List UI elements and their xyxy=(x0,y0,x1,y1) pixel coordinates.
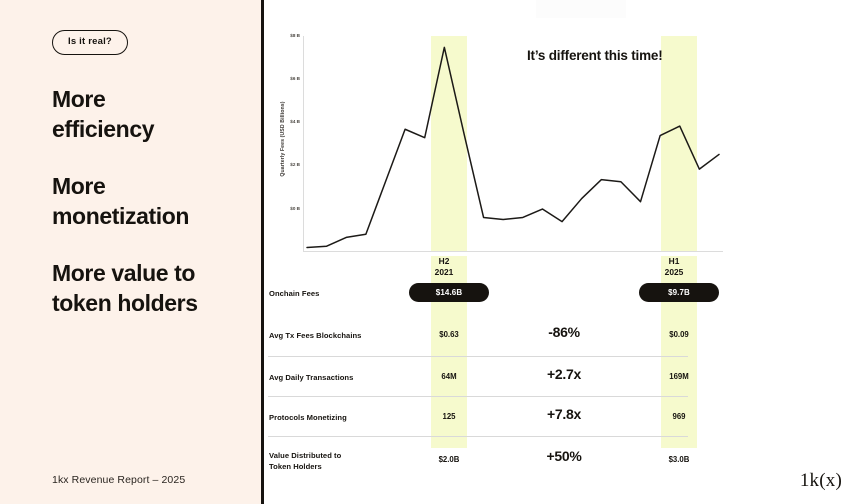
period-label-h2-2021-line2: 2021 xyxy=(416,267,472,278)
table-row: Avg Tx Fees Blockchains $0.63 -86% $0.09 xyxy=(264,316,860,356)
chart-plot-area: It’s different this time! xyxy=(303,36,723,252)
y-tick-0: $0 B xyxy=(290,206,300,211)
table-row: Avg Daily Transactions 64M +2.7x 169M xyxy=(264,356,860,396)
row-label-value-distributed-line1: Value Distributed to xyxy=(269,450,341,461)
headline-efficiency-line2: efficiency xyxy=(52,114,264,145)
period-label-h1-2025: H1 2025 xyxy=(646,256,702,278)
row-label-avg-daily-transactions: Avg Daily Transactions xyxy=(269,372,353,383)
y-tick-2: $2 B xyxy=(290,162,300,167)
row-delta-avg-daily-transactions: +2.7x xyxy=(509,366,619,382)
right-panel: Quarterly Fees (USD Billions) $8 B $6 B … xyxy=(264,0,860,504)
row-value-left-value-distributed: $2.0B xyxy=(409,455,489,464)
row-delta-avg-tx-fees: -86% xyxy=(509,324,619,340)
period-label-h1-2025-line1: H1 xyxy=(646,256,702,267)
row-divider xyxy=(268,356,688,357)
row-delta-value-distributed: +50% xyxy=(509,448,619,464)
row-value-left-protocols-monetizing: 125 xyxy=(409,412,489,421)
row-value-left-onchain-fees: $14.6B xyxy=(409,283,489,302)
row-label-onchain-fees: Onchain Fees xyxy=(269,288,319,299)
status-badge: Is it real? xyxy=(52,30,128,55)
row-divider xyxy=(268,396,688,397)
footer-report-label: 1kx Revenue Report – 2025 xyxy=(52,474,185,486)
row-value-right-avg-daily-transactions: 169M xyxy=(639,372,719,381)
quarterly-fees-chart: Quarterly Fees (USD Billions) $8 B $6 B … xyxy=(264,36,860,262)
table-row: Onchain Fees $14.6B $9.7B xyxy=(264,278,860,316)
headline-efficiency-line1: More xyxy=(52,84,264,115)
row-value-right-value-distributed: $3.0B xyxy=(639,455,719,464)
table-row: Protocols Monetizing 125 +7.8x 969 xyxy=(264,396,860,436)
row-label-value-distributed: Value Distributed to Token Holders xyxy=(269,450,341,472)
row-label-value-distributed-line2: Token Holders xyxy=(269,461,341,472)
left-panel: Is it real? More efficiency More monetiz… xyxy=(0,0,264,504)
headline-token-value: More value to token holders xyxy=(52,258,264,319)
comparison-table: Onchain Fees $14.6B $9.7B Avg Tx Fees Bl… xyxy=(264,278,860,478)
row-value-left-avg-tx-fees: $0.63 xyxy=(409,330,489,339)
row-value-right-protocols-monetizing: 969 xyxy=(639,412,719,421)
headline-monetization: More monetization xyxy=(52,171,264,232)
slide: Is it real? More efficiency More monetiz… xyxy=(0,0,860,504)
table-row: Value Distributed to Token Holders $2.0B… xyxy=(264,436,860,480)
headline-token-value-line2: token holders xyxy=(52,288,264,319)
fees-line-series xyxy=(303,36,723,252)
period-label-h1-2025-line2: 2025 xyxy=(646,267,702,278)
headline-monetization-line1: More xyxy=(52,171,264,202)
headline-monetization-line2: monetization xyxy=(52,201,264,232)
period-label-h2-2021-line1: H2 xyxy=(416,256,472,267)
row-value-right-avg-tx-fees: $0.09 xyxy=(639,330,719,339)
row-delta-protocols-monetizing: +7.8x xyxy=(509,406,619,422)
headline-efficiency: More efficiency xyxy=(52,84,264,145)
chart-callout: It’s different this time! xyxy=(527,48,663,63)
row-label-protocols-monetizing: Protocols Monetizing xyxy=(269,412,347,423)
y-tick-4: $4 B xyxy=(290,119,300,124)
y-tick-6: $6 B xyxy=(290,76,300,81)
row-value-right-onchain-fees: $9.7B xyxy=(639,283,719,302)
row-label-avg-tx-fees: Avg Tx Fees Blockchains xyxy=(269,330,361,341)
row-divider xyxy=(268,436,688,437)
row-value-left-avg-daily-transactions: 64M xyxy=(409,372,489,381)
y-tick-8: $8 B xyxy=(290,33,300,38)
y-axis-ticks: $8 B $6 B $4 B $2 B $0 B xyxy=(272,36,300,252)
watermark-artifact xyxy=(536,0,626,18)
headline-token-value-line1: More value to xyxy=(52,258,264,289)
period-label-h2-2021: H2 2021 xyxy=(416,256,472,278)
